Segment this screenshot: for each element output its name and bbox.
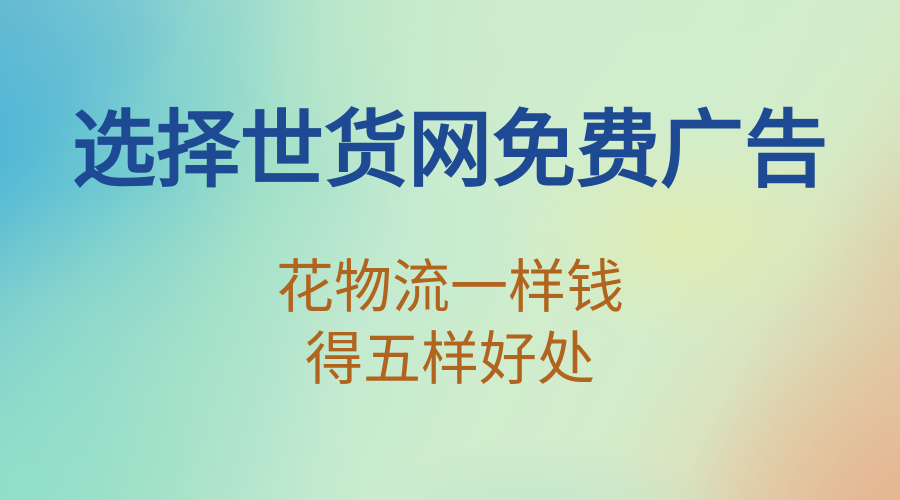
promo-banner: 选择世货网免费广告 花物流一样钱 得五样好处 bbox=[0, 0, 900, 500]
banner-content: 选择世货网免费广告 花物流一样钱 得五样好处 bbox=[0, 0, 900, 500]
banner-headline: 选择世货网免费广告 bbox=[0, 104, 900, 196]
banner-subtitle-line-1: 花物流一样钱 bbox=[0, 254, 900, 320]
banner-subtitle-line-2: 得五样好处 bbox=[0, 326, 900, 392]
